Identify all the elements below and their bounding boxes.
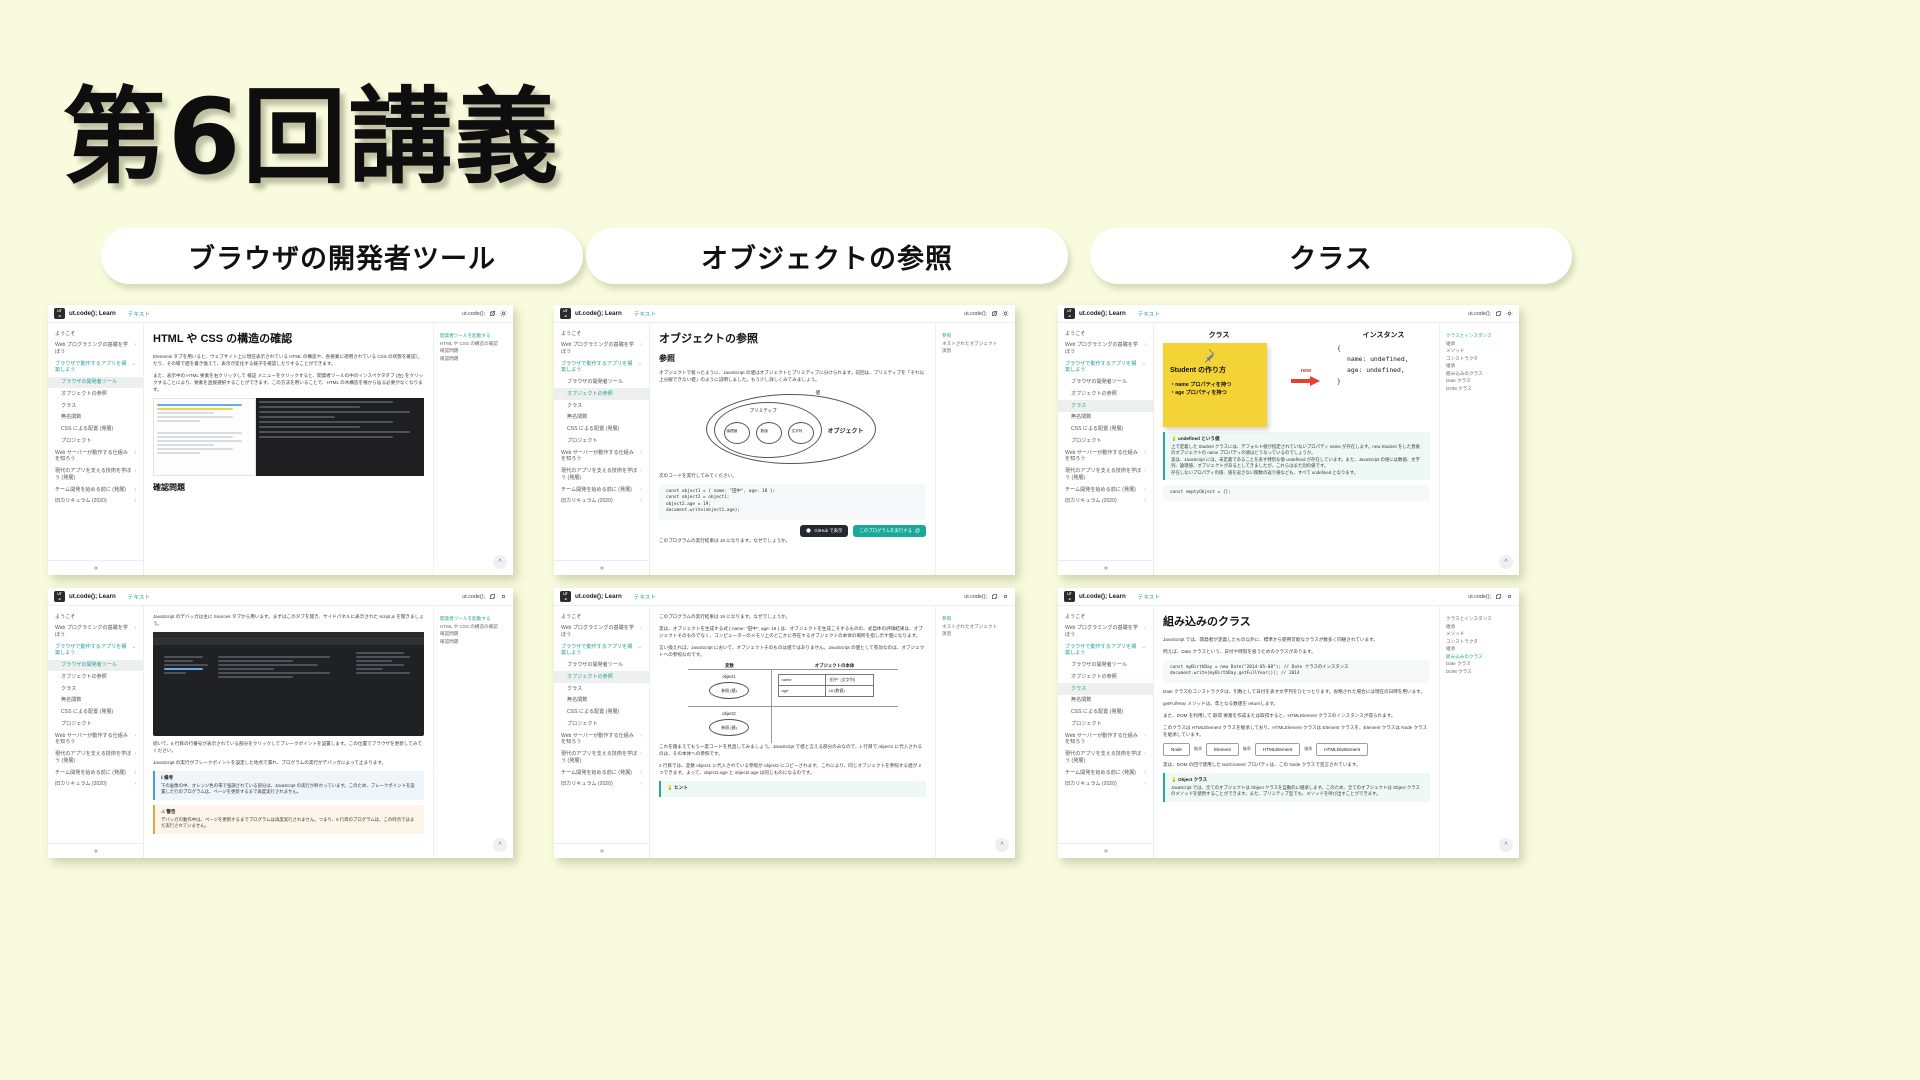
sidebar-item-modern-tech[interactable]: 現代のアプリを支える技術を学ぼう (発展)› xyxy=(48,466,143,484)
sidebar-item-label: Web サーバーが動作する仕組みを知ろう xyxy=(561,450,638,463)
sidebar-item-label: オブジェクトの参照 xyxy=(567,674,613,681)
table-of-contents[interactable]: クラスとインスタンス 継承 メソッド コンストラクタ 継承 組み込みのクラス D… xyxy=(1439,323,1519,575)
callout-body: 存在しないプロパティの値、値を返さない関数の返り値なども、すべて undefin… xyxy=(1171,470,1424,476)
topic-pill-browser-devtools[interactable]: ブラウザの開発者ツール xyxy=(101,228,583,284)
sidebar-item-browser-apps[interactable]: ブラウザで動作するアプリを構築しよう⌄ xyxy=(1058,641,1153,659)
content-paragraph: JavaScript のデバッガは主に Sources タブから用います。まずは… xyxy=(153,613,424,627)
sidebar-item-old-curriculum[interactable]: 旧カリキュラム (2020)› xyxy=(48,496,143,508)
sidebar-item-anonymous-function[interactable]: 無名関数 xyxy=(48,412,143,424)
sidebar-item-object-reference[interactable]: オブジェクトの参照 xyxy=(554,671,649,683)
sidebar-item-label: ようこそ xyxy=(561,331,581,338)
toc-item[interactable]: 確認問題 xyxy=(440,638,507,646)
sidebar-item-label: ブラウザの開発者ツール xyxy=(1071,662,1127,669)
sidebar-item-label: 旧カリキュラム (2020) xyxy=(1065,781,1117,788)
sidebar-item-old-curriculum[interactable]: 旧カリキュラム (2020)› xyxy=(48,779,143,791)
sidebar-item-css-layout[interactable]: CSS による配置 (発展) xyxy=(48,707,143,719)
dom-node-box: Node xyxy=(1163,743,1190,756)
table-row: age 18 (数値) xyxy=(779,686,873,696)
table-of-contents[interactable]: クラスとインスタンス 継承 メソッド コンストラクタ 継承 組み込みのクラス D… xyxy=(1439,606,1519,858)
sidebar-item-object-reference[interactable]: オブジェクトの参照 xyxy=(1058,671,1153,683)
toc-item[interactable]: クラスとインスタンス xyxy=(1446,332,1513,340)
sidebar-item-label: クラス xyxy=(567,686,582,693)
diagram-row: object1 参照 (値) name "田中" (文字列) xyxy=(688,669,898,706)
sidebar-collapse-button[interactable]: « xyxy=(48,843,144,858)
sidebar-item-label: Web プログラミングの基礎を学ぼう xyxy=(561,625,638,638)
sidebar-item-object-reference[interactable]: オブジェクトの参照 xyxy=(554,388,649,400)
sticky-title: Student の作り方 xyxy=(1170,365,1260,375)
sidebar-collapse-button[interactable]: « xyxy=(1058,843,1154,858)
toc-item[interactable]: 確認問題 xyxy=(440,630,507,638)
content-paragraph: 2 行目では、変数 object1 に代入されている参照が object2 にコ… xyxy=(659,762,926,776)
toc-item[interactable]: 開発者ツールを起動する xyxy=(440,615,507,623)
sidebar-item-web-basics[interactable]: Web プログラミングの基礎を学ぼう› xyxy=(48,623,143,641)
callout-title: ⚠ 警告 xyxy=(161,809,418,815)
sidebar-item-browser-apps[interactable]: ブラウザで動作するアプリを構築しよう⌄ xyxy=(48,358,143,376)
topic-pill-row: ブラウザの開発者ツール オブジェクトの参照 クラス xyxy=(0,228,1920,290)
toc-item[interactable]: 演習 xyxy=(942,347,1009,355)
utcode-logo-icon: UT .c xyxy=(1064,308,1075,319)
screenshot-devtools-bottom[interactable]: UT .c ut.code(); Learn テキスト ut.code(); xyxy=(48,588,513,858)
sidebar-item-css-layout[interactable]: CSS による配置 (発展) xyxy=(48,424,143,436)
dom-node-box: HTMLElement xyxy=(1255,743,1300,756)
toc-item[interactable]: 開発者ツールを起動する xyxy=(440,332,507,340)
logo-line-2: .c xyxy=(560,314,571,319)
toc-item[interactable]: 組み込みのクラス xyxy=(1446,370,1513,378)
sidebar-item-devtools[interactable]: ブラウザの開発者ツール xyxy=(48,660,143,672)
content-paragraph: これを踏まえてもう一度コードを見直してみましょう。JavaScript で値と言… xyxy=(659,743,926,757)
sidebar[interactable]: ようこそ Web プログラミングの基礎を学ぼう› ブラウザで動作するアプリを構築… xyxy=(554,606,650,858)
chevron-right-icon: › xyxy=(134,450,136,457)
content-paragraph: 続いて、5 行目の行番号が表示されている部分をクリックしてブレークポイントを設置… xyxy=(153,740,424,754)
sidebar-item-css-layout[interactable]: CSS による配置 (発展) xyxy=(554,707,649,719)
brand-name: ut.code(); Learn xyxy=(1079,593,1126,600)
toc-item[interactable]: 確認問題 xyxy=(440,347,507,355)
site-brand[interactable]: UT .c ut.code(); Learn テキスト xyxy=(1064,308,1160,319)
value-type-venn-diagram: 値 プリミティブ 論理値 数値 文字列 オブジェクト xyxy=(698,388,888,468)
chevron-right-icon: › xyxy=(640,781,642,788)
class-column-title: クラス xyxy=(1163,330,1275,340)
run-program-button[interactable]: このプログラムを実行する xyxy=(853,525,926,537)
brand-name: ut.code(); Learn xyxy=(575,310,622,317)
sidebar-item-class[interactable]: クラス xyxy=(48,683,143,695)
toc-item[interactable]: 参照 xyxy=(942,332,1009,340)
sidebar-item-label: ようこそ xyxy=(561,614,581,621)
sidebar-item-web-server[interactable]: Web サーバーが動作する仕組みを知ろう› xyxy=(1058,447,1153,465)
chevron-right-icon: › xyxy=(1144,450,1146,457)
sidebar-item-class[interactable]: クラス xyxy=(48,400,143,412)
callout-note: ℹ 備考 下の画像の中、オレンジ色の帯で強調されている部分は、JavaScrip… xyxy=(153,771,424,800)
sun-icon[interactable] xyxy=(1506,593,1513,600)
sidebar-item-browser-apps[interactable]: ブラウザで動作するアプリを構築しよう⌄ xyxy=(1058,358,1153,376)
sticky-note: Student の作り方 ・name プロパティを持つ ・age プロパティを持… xyxy=(1163,343,1267,427)
external-link-icon[interactable] xyxy=(991,310,998,317)
toc-item[interactable]: 継承 xyxy=(1446,645,1513,653)
info-icon: ℹ xyxy=(161,775,163,780)
sun-icon[interactable] xyxy=(500,310,507,317)
diagram-object-cell: name "田中" (文字列) age 18 (数値) xyxy=(772,670,898,706)
scroll-to-top-button[interactable]: ^ xyxy=(1499,555,1513,569)
sidebar-item-project[interactable]: プロジェクト xyxy=(554,718,649,730)
toc-item[interactable]: DOM クラス xyxy=(1446,668,1513,676)
sidebar-item-label: 現代のアプリを支える技術を学ぼう (発展) xyxy=(1065,468,1142,481)
code-line: name: undefined, xyxy=(1337,354,1430,365)
venn-label-boolean: 論理値 xyxy=(727,429,738,434)
sidebar-collapse-button[interactable]: « xyxy=(554,843,650,858)
toc-item[interactable]: メソッド xyxy=(1446,347,1513,355)
topic-pill-object-reference[interactable]: オブジェクトの参照 xyxy=(586,228,1068,284)
toc-item[interactable]: 演習 xyxy=(942,630,1009,638)
sidebar-item-object-reference[interactable]: オブジェクトの参照 xyxy=(48,388,143,400)
sidebar-item-devtools[interactable]: ブラウザの開発者ツール xyxy=(554,377,649,389)
chevron-right-icon: › xyxy=(134,468,136,475)
sidebar-item-project[interactable]: プロジェクト xyxy=(48,718,143,730)
callout-title-text: ヒント xyxy=(674,785,688,790)
sidebar-item-label: 無名関数 xyxy=(567,697,587,704)
sidebar-item-modern-tech[interactable]: 現代のアプリを支える技術を学ぼう (発展)› xyxy=(48,749,143,767)
sidebar-item-web-server[interactable]: Web サーバーが動作する仕組みを知ろう› xyxy=(48,730,143,748)
sidebar-item-label: ブラウザで動作するアプリを構築しよう xyxy=(55,644,130,657)
site-brand[interactable]: UT .c ut.code(); Learn テキスト xyxy=(1064,591,1160,602)
content-paragraph: 実は、オブジェクトを生成する式 { name: "田中", age: 18 } … xyxy=(659,625,926,639)
toc-item[interactable]: コンストラクタ xyxy=(1446,638,1513,646)
sidebar-collapse-button[interactable]: « xyxy=(48,560,144,575)
content-paragraph: 例えば、Date クラスという、日付や時刻を扱うためのクラスがあります。 xyxy=(1163,648,1430,655)
sidebar-item-project[interactable]: プロジェクト xyxy=(1058,718,1153,730)
callout-title-text: undefined という値 xyxy=(1178,436,1220,441)
toc-item[interactable]: HTML や CSS の構造の確認 xyxy=(440,623,507,631)
sidebar-item-old-curriculum[interactable]: 旧カリキュラム (2020)› xyxy=(554,779,649,791)
sidebar-item-devtools[interactable]: ブラウザの開発者ツール xyxy=(48,377,143,389)
content-paragraph: このクラスは HTMLElement クラスを継承しており、HTMLElemen… xyxy=(1163,724,1430,738)
sidebar-item-label: 旧カリキュラム (2020) xyxy=(55,781,107,788)
sidebar-item-class[interactable]: クラス xyxy=(554,400,649,412)
sidebar-item-project[interactable]: プロジェクト xyxy=(554,435,649,447)
scroll-to-top-button[interactable]: ^ xyxy=(1499,838,1513,852)
sidebar-item-modern-tech[interactable]: 現代のアプリを支える技術を学ぼう (発展)› xyxy=(554,749,649,767)
button-label: GitHub で表示 xyxy=(814,528,842,534)
sidebar-item-team-dev[interactable]: チーム開発を始める前に (発展)› xyxy=(1058,484,1153,496)
chevron-right-icon: › xyxy=(134,733,136,740)
sidebar-item-css-layout[interactable]: CSS による配置 (発展) xyxy=(1058,424,1153,436)
code-line: document.write(object1.age); xyxy=(666,508,919,514)
sidebar-item-label: 旧カリキュラム (2020) xyxy=(561,781,613,788)
sidebar-item-welcome[interactable]: ようこそ xyxy=(1058,328,1153,340)
venn-label-number: 数値 xyxy=(761,429,768,434)
nav-link-text[interactable]: テキスト xyxy=(1138,593,1160,601)
sidebar[interactable]: ようこそ Web プログラミングの基礎を学ぼう› ブラウザで動作するアプリを構築… xyxy=(48,323,144,575)
external-link-icon[interactable] xyxy=(991,593,998,600)
toc-item[interactable]: 継承 xyxy=(1446,623,1513,631)
sidebar-item-anonymous-function[interactable]: 無名関数 xyxy=(48,695,143,707)
sidebar-item-web-server[interactable]: Web サーバーが動作する仕組みを知ろう› xyxy=(48,447,143,465)
sidebar-item-web-server[interactable]: Web サーバーが動作する仕組みを知ろう› xyxy=(1058,730,1153,748)
site-topbar: UT .c ut.code(); Learn テキスト ut.code(); xyxy=(1058,305,1519,323)
sidebar-item-browser-apps[interactable]: ブラウザで動作するアプリを構築しよう⌄ xyxy=(48,641,143,659)
topbar-right: ut.code(); xyxy=(462,310,507,317)
view-on-github-button[interactable]: GitHub で表示 xyxy=(800,525,848,537)
site-topbar: UT .c ut.code(); Learn テキスト ut.code(); xyxy=(48,305,513,323)
site-brand[interactable]: UT .c ut.code(); Learn テキスト xyxy=(560,591,656,602)
sidebar-item-anonymous-function[interactable]: 無名関数 xyxy=(1058,412,1153,424)
code-action-buttons: GitHub で表示 このプログラムを実行する xyxy=(659,525,926,537)
sidebar-item-label: プロジェクト xyxy=(1071,721,1102,728)
sun-icon[interactable] xyxy=(1002,593,1009,600)
sidebar-item-team-dev[interactable]: チーム開発を始める前に (発展)› xyxy=(48,484,143,496)
table-row: name "田中" (文字列) xyxy=(779,675,873,686)
new-keyword-label: new xyxy=(1301,368,1311,374)
topbar-right: ut.code(); xyxy=(1468,310,1513,317)
topbar-label: ut.code(); xyxy=(964,311,987,317)
sidebar-item-css-layout[interactable]: CSS による配置 (発展) xyxy=(1058,707,1153,719)
callout-title-text: Object クラス xyxy=(1178,777,1207,782)
nav-link-text[interactable]: テキスト xyxy=(128,593,150,601)
chevron-down-icon: ⌄ xyxy=(1142,361,1146,368)
toc-item[interactable]: 参照 xyxy=(942,615,1009,623)
sidebar-item-label: Web サーバーが動作する仕組みを知ろう xyxy=(55,733,132,746)
button-label: このプログラムを実行する xyxy=(859,528,912,534)
external-link-icon[interactable] xyxy=(489,593,496,600)
instance-column-title: インスタンス xyxy=(1337,330,1430,340)
nav-link-text[interactable]: テキスト xyxy=(634,310,656,318)
variable-name: object1 xyxy=(688,674,771,679)
toc-item[interactable]: DOM クラス xyxy=(1446,385,1513,393)
sidebar-item-old-curriculum[interactable]: 旧カリキュラム (2020)› xyxy=(1058,779,1153,791)
site-brand[interactable]: UT .c ut.code(); Learn テキスト xyxy=(54,308,150,319)
sidebar-item-label: 旧カリキュラム (2020) xyxy=(561,498,613,505)
devtools-code-editor xyxy=(218,654,343,680)
topic-pill-class[interactable]: クラス xyxy=(1090,228,1572,284)
devtools-titlebar xyxy=(153,632,424,639)
sidebar-item-css-layout[interactable]: CSS による配置 (発展) xyxy=(554,424,649,436)
sidebar-item-welcome[interactable]: ようこそ xyxy=(554,611,649,623)
sidebar-item-welcome[interactable]: ようこそ xyxy=(48,328,143,340)
toc-item[interactable]: 確認問題 xyxy=(440,355,507,363)
sidebar-item-browser-apps[interactable]: ブラウザで動作するアプリを構築しよう⌄ xyxy=(554,641,649,659)
sidebar-item-label: CSS による配置 (発展) xyxy=(1071,426,1123,433)
sidebar-item-modern-tech[interactable]: 現代のアプリを支える技術を学ぼう (発展)› xyxy=(1058,749,1153,767)
sidebar[interactable]: ようこそ Web プログラミングの基礎を学ぼう› ブラウザで動作するアプリを構築… xyxy=(554,323,650,575)
callout-body: デバッガの動作中は、ページを更新するまでプログラムは再度実行されません。つまり、… xyxy=(161,817,418,830)
sidebar-item-team-dev[interactable]: チーム開発を始める前に (発展)› xyxy=(48,767,143,779)
sidebar-item-web-server[interactable]: Web サーバーが動作する仕組みを知ろう› xyxy=(554,730,649,748)
sidebar-item-team-dev[interactable]: チーム開発を始める前に (発展)› xyxy=(554,767,649,779)
sidebar-item-label: プロジェクト xyxy=(61,721,92,728)
scroll-to-top-button[interactable]: ^ xyxy=(995,838,1009,852)
sidebar-item-label: チーム開発を始める前に (発展) xyxy=(55,487,126,494)
sidebar-item-anonymous-function[interactable]: 無名関数 xyxy=(554,412,649,424)
sun-icon[interactable] xyxy=(500,593,507,600)
screenshot-devtools-top[interactable]: UT .c ut.code(); Learn テキスト ut.code(); xyxy=(48,305,513,575)
sidebar-item-label: ブラウザで動作するアプリを構築しよう xyxy=(1065,361,1140,374)
callout-title: 💡 undefined という値 xyxy=(1171,436,1424,442)
sidebar-item-class[interactable]: クラス xyxy=(1058,400,1153,412)
pushpin-icon xyxy=(1203,348,1219,364)
sidebar-item-modern-tech[interactable]: 現代のアプリを支える技術を学ぼう (発展)› xyxy=(554,466,649,484)
sidebar-item-label: プロジェクト xyxy=(61,438,92,445)
devtools-debugger-panel xyxy=(356,650,416,676)
chevron-down-icon: ⌄ xyxy=(132,361,136,368)
sidebar-item-object-reference[interactable]: オブジェクトの参照 xyxy=(1058,388,1153,400)
sidebar-item-label: Web プログラミングの基礎を学ぼう xyxy=(561,342,638,355)
sidebar-item-devtools[interactable]: ブラウザの開発者ツール xyxy=(1058,660,1153,672)
sticky-line: ・name プロパティを持つ xyxy=(1170,381,1260,389)
site-brand[interactable]: UT .c ut.code(); Learn テキスト xyxy=(560,308,656,319)
site-topbar: UT .c ut.code(); Learn テキスト ut.code(); xyxy=(554,305,1015,323)
external-link-icon[interactable] xyxy=(1495,310,1502,317)
dom-node-box: Element xyxy=(1206,743,1239,756)
sidebar-item-web-basics[interactable]: Web プログラミングの基礎を学ぼう› xyxy=(48,340,143,358)
chevron-right-icon: › xyxy=(134,770,136,777)
toc-item[interactable]: コンストラクタ xyxy=(1446,355,1513,363)
sidebar-item-label: 旧カリキュラム (2020) xyxy=(55,498,107,505)
lightbulb-icon: 💡 xyxy=(667,785,673,790)
screenshot-object-reference-top[interactable]: UT .c ut.code(); Learn テキスト ut.code(); xyxy=(554,305,1015,575)
sidebar-item-label: 現代のアプリを支える技術を学ぼう (発展) xyxy=(1065,751,1142,764)
inheritance-arrow-label: 継承 xyxy=(1243,746,1251,752)
screenshot-object-reference-bottom[interactable]: UT .c ut.code(); Learn テキスト ut.code(); xyxy=(554,588,1015,858)
site-brand[interactable]: UT .c ut.code(); Learn テキスト xyxy=(54,591,150,602)
sidebar-item-label: ブラウザの開発者ツール xyxy=(1071,379,1127,386)
chevron-right-icon: › xyxy=(1144,770,1146,777)
content-paragraph: このプログラムの実行結果は 19 になります。なぜでしょうか。 xyxy=(659,537,926,544)
table-of-contents[interactable]: 参照 ネストされたオブジェクト 演習 xyxy=(935,323,1015,575)
callout-body: JavaScript では、全てのオブジェクトは Object クラスを自動的に… xyxy=(1171,785,1424,798)
sidebar-item-devtools[interactable]: ブラウザの開発者ツール xyxy=(554,660,649,672)
sidebar-item-label: Web プログラミングの基礎を学ぼう xyxy=(1065,625,1142,638)
sidebar-item-label: 無名関数 xyxy=(1071,697,1091,704)
sidebar[interactable]: ようこそ Web プログラミングの基礎を学ぼう› ブラウザで動作するアプリを構築… xyxy=(1058,323,1154,575)
sidebar-item-welcome[interactable]: ようこそ xyxy=(554,328,649,340)
sidebar[interactable]: ようこそ Web プログラミングの基礎を学ぼう› ブラウザで動作するアプリを構築… xyxy=(1058,606,1154,858)
sidebar-item-modern-tech[interactable]: 現代のアプリを支える技術を学ぼう (発展)› xyxy=(1058,466,1153,484)
embedded-article-pane xyxy=(153,398,256,476)
sidebar-item-team-dev[interactable]: チーム開発を始める前に (発展)› xyxy=(554,484,649,496)
sidebar-item-web-basics[interactable]: Web プログラミングの基礎を学ぼう› xyxy=(1058,340,1153,358)
chevron-right-icon: › xyxy=(640,487,642,494)
sidebar-item-web-basics[interactable]: Web プログラミングの基礎を学ぼう› xyxy=(554,623,649,641)
scroll-to-top-button[interactable]: ^ xyxy=(493,555,507,569)
sidebar-item-old-curriculum[interactable]: 旧カリキュラム (2020)› xyxy=(554,496,649,508)
external-link-icon[interactable] xyxy=(489,310,496,317)
sidebar-item-old-curriculum[interactable]: 旧カリキュラム (2020)› xyxy=(1058,496,1153,508)
sun-icon[interactable] xyxy=(1506,310,1513,317)
sidebar-item-welcome[interactable]: ようこそ xyxy=(1058,611,1153,623)
chevron-right-icon: › xyxy=(640,733,642,740)
nav-link-text[interactable]: テキスト xyxy=(634,593,656,601)
toc-item[interactable]: Date クラス xyxy=(1446,377,1513,385)
external-link-icon[interactable] xyxy=(1495,593,1502,600)
toc-item[interactable]: 継承 xyxy=(1446,362,1513,370)
logo-line-2: .c xyxy=(54,597,65,602)
sidebar-item-anonymous-function[interactable]: 無名関数 xyxy=(1058,695,1153,707)
sidebar[interactable]: ようこそ Web プログラミングの基礎を学ぼう› ブラウザで動作するアプリを構築… xyxy=(48,606,144,858)
sidebar-item-devtools[interactable]: ブラウザの開発者ツール xyxy=(1058,377,1153,389)
sidebar-item-label: Web サーバーが動作する仕組みを知ろう xyxy=(1065,733,1142,746)
main-content: このプログラムの実行結果は 19 になります。なぜでしょうか。 実は、オブジェク… xyxy=(650,606,935,858)
content-paragraph: また、DOM を利用して 取得 要素を作成または取得すると、HTMLElemen… xyxy=(1163,712,1430,719)
utcode-logo-icon: UT .c xyxy=(560,591,571,602)
warning-icon: ⚠ xyxy=(161,809,165,814)
chevron-right-icon: › xyxy=(640,450,642,457)
sidebar-item-object-reference[interactable]: オブジェクトの参照 xyxy=(48,671,143,683)
content-paragraph: このプログラムの実行結果は 19 になります。なぜでしょうか。 xyxy=(659,613,926,620)
sidebar-item-label: 現代のアプリを支える技術を学ぼう (発展) xyxy=(55,468,132,481)
topbar-right: ut.code(); xyxy=(1468,593,1513,600)
table-of-contents[interactable]: 開発者ツールを起動する HTML や CSS の構造の確認 確認問題 確認問題 xyxy=(433,606,513,858)
toc-item[interactable]: ネストされたオブジェクト xyxy=(942,623,1009,631)
toc-item[interactable]: 組み込みのクラス xyxy=(1446,653,1513,661)
sidebar-item-web-basics[interactable]: Web プログラミングの基礎を学ぼう› xyxy=(554,340,649,358)
screenshot-class-bottom[interactable]: UT .c ut.code(); Learn テキスト ut.code(); xyxy=(1058,588,1519,858)
property-value: 18 (数値) xyxy=(826,686,873,696)
sidebar-item-class[interactable]: クラス xyxy=(1058,683,1153,695)
lightbulb-icon: 💡 xyxy=(1171,777,1177,782)
brand-name: ut.code(); Learn xyxy=(69,310,116,317)
toc-item[interactable]: メソッド xyxy=(1446,630,1513,638)
table-of-contents[interactable]: 参照 ネストされたオブジェクト 演習 xyxy=(935,606,1015,858)
sidebar-item-web-server[interactable]: Web サーバーが動作する仕組みを知ろう› xyxy=(554,447,649,465)
toc-item[interactable]: 継承 xyxy=(1446,340,1513,348)
sidebar-item-browser-apps[interactable]: ブラウザで動作するアプリを構築しよう⌄ xyxy=(554,358,649,376)
sidebar-item-label: オブジェクトの参照 xyxy=(567,391,613,398)
inheritance-arrow-label: 継承 xyxy=(1304,746,1312,752)
chevron-right-icon: › xyxy=(640,498,642,505)
sidebar-item-label: Web サーバーが動作する仕組みを知ろう xyxy=(561,733,638,746)
arrow-right-icon xyxy=(1291,376,1321,385)
screenshot-class-top[interactable]: UT .c ut.code(); Learn テキスト ut.code(); xyxy=(1058,305,1519,575)
sidebar-item-web-basics[interactable]: Web プログラミングの基礎を学ぼう› xyxy=(1058,623,1153,641)
sun-icon[interactable] xyxy=(1002,310,1009,317)
scroll-to-top-button[interactable]: ^ xyxy=(493,838,507,852)
sidebar-item-label: クラス xyxy=(1071,686,1086,693)
sidebar-item-team-dev[interactable]: チーム開発を始める前に (発展)› xyxy=(1058,767,1153,779)
main-content: 組み込みのクラス JavaScript では、開発者が定義したもの以外に、標準か… xyxy=(1154,606,1439,858)
inheritance-arrow-label: 継承 xyxy=(1194,746,1202,752)
toc-item[interactable]: Date クラス xyxy=(1446,660,1513,668)
page-body: ようこそ Web プログラミングの基礎を学ぼう› ブラウザで動作するアプリを構築… xyxy=(48,323,513,575)
toc-item[interactable]: クラスとインスタンス xyxy=(1446,615,1513,623)
sidebar-item-label: ようこそ xyxy=(1065,614,1085,621)
sidebar-item-label: プロジェクト xyxy=(567,438,598,445)
venn-label-string: 文字列 xyxy=(792,429,803,434)
sidebar-item-label: チーム開発を始める前に (発展) xyxy=(1065,770,1136,777)
sidebar-collapse-button[interactable]: « xyxy=(1058,560,1154,575)
toc-item[interactable]: HTML や CSS の構造の確認 xyxy=(440,340,507,348)
devtools-file-tree xyxy=(164,654,213,676)
object-property-table: name "田中" (文字列) age 18 (数値) xyxy=(778,674,874,697)
dom-class-hierarchy: Node 継承 Element 継承 HTMLElement 継承 HTMLDi… xyxy=(1163,743,1430,756)
external-link-icon xyxy=(915,528,920,534)
sidebar-collapse-button[interactable]: « xyxy=(554,560,650,575)
embedded-devtools-screenshot xyxy=(153,398,424,476)
topbar-label: ut.code(); xyxy=(1468,311,1491,317)
chevron-right-icon: › xyxy=(134,487,136,494)
diagram-col-variable: 変数 xyxy=(688,663,772,669)
sidebar-item-label: 旧カリキュラム (2020) xyxy=(1065,498,1117,505)
table-of-contents[interactable]: 開発者ツールを起動する HTML や CSS の構造の確認 確認問題 確認問題 xyxy=(433,323,513,575)
toc-item[interactable]: ネストされたオブジェクト xyxy=(942,340,1009,348)
reference-oval: 参照 (値) xyxy=(709,682,749,699)
sidebar-item-welcome[interactable]: ようこそ xyxy=(48,611,143,623)
sidebar-item-anonymous-function[interactable]: 無名関数 xyxy=(554,695,649,707)
sidebar-item-class[interactable]: クラス xyxy=(554,683,649,695)
sidebar-item-project[interactable]: プロジェクト xyxy=(1058,435,1153,447)
nav-link-text[interactable]: テキスト xyxy=(1138,310,1160,318)
sidebar-item-project[interactable]: プロジェクト xyxy=(48,435,143,447)
code-block: const emptyObject = {}; xyxy=(1163,485,1430,501)
sidebar-item-label: ブラウザで動作するアプリを構築しよう xyxy=(561,644,636,657)
nav-link-text[interactable]: テキスト xyxy=(128,310,150,318)
